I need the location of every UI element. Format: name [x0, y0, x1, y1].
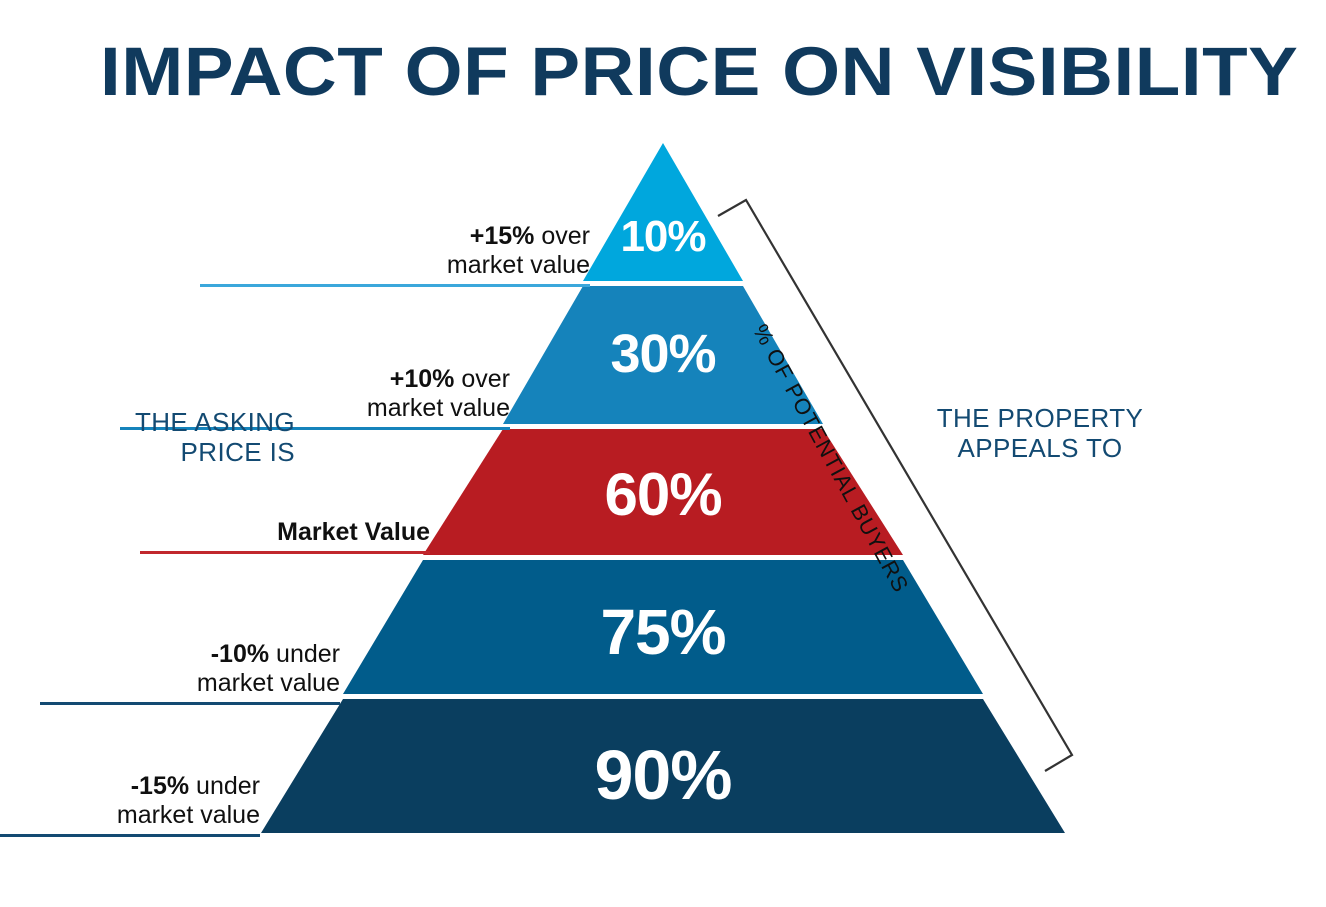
callout-minus-10: -10% under market value	[40, 640, 340, 705]
heading-property-appeals: THE PROPERTY APPEALS TO	[925, 403, 1155, 463]
callout-emphasis: -10%	[211, 640, 269, 668]
band-value-3: 60%	[538, 460, 788, 529]
band-value-1: 10%	[563, 212, 763, 262]
callout-rule	[140, 551, 430, 554]
heading-asking-price: THE ASKING PRICE IS	[80, 407, 295, 467]
callout-market-value: Market Value	[140, 518, 430, 554]
infographic-canvas: IMPACT OF PRICE ON VISIBILITY 10% 30% 60…	[0, 0, 1326, 907]
callout-line2: market value	[447, 251, 590, 279]
callout-emphasis: +15%	[470, 222, 535, 250]
callout-rest: over	[534, 222, 590, 250]
callout-rest: under	[269, 640, 340, 668]
callout-emphasis: -15%	[131, 772, 189, 800]
callout-rule	[40, 702, 340, 705]
callout-emphasis: Market Value	[277, 518, 430, 546]
callout-emphasis: +10%	[390, 365, 455, 393]
callout-line2: market value	[197, 669, 340, 697]
band-value-5: 90%	[528, 735, 798, 815]
callout-line2: market value	[367, 394, 510, 422]
callout-rule	[0, 834, 260, 837]
callout-rule	[200, 284, 590, 287]
callout-rest: over	[454, 365, 510, 393]
callout-rest: under	[189, 772, 260, 800]
callout-plus-15: +15% over market value	[200, 222, 590, 287]
band-value-4: 75%	[533, 595, 793, 669]
callout-minus-15: -15% under market value	[0, 772, 260, 837]
callout-line2: market value	[117, 801, 260, 829]
